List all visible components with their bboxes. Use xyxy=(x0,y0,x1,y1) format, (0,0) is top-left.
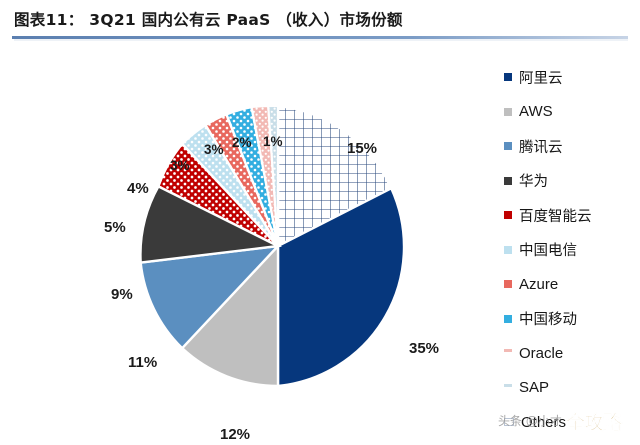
pie-chart-svg xyxy=(78,56,478,436)
legend-item-tencent-cloud[interactable]: 腾讯云 xyxy=(504,129,636,164)
pct-label-baidu: 5% xyxy=(104,219,126,236)
legend-label: Oracle xyxy=(519,345,563,362)
pie-chart xyxy=(78,56,478,436)
legend-label: 阿里云 xyxy=(519,67,563,88)
page-title: 图表11： 3Q21 国内公有云 PaaS （收入）市场份额 xyxy=(14,8,403,30)
legend-item-huawei[interactable]: 华为 xyxy=(504,164,636,199)
watermark-source-text: 头条 @小才 xyxy=(498,412,562,429)
legend-swatch-icon xyxy=(504,177,512,185)
legend-swatch-icon xyxy=(504,211,512,219)
legend-label: 腾讯云 xyxy=(519,136,563,157)
watermark-brand-text: 全攻略 xyxy=(566,408,622,435)
legend-swatch-icon xyxy=(504,246,512,254)
legend-item-china-telecom[interactable]: 中国电信 xyxy=(504,233,636,268)
legend-swatch-icon xyxy=(504,73,512,81)
header-divider-shadow xyxy=(14,39,628,41)
legend-label: 华为 xyxy=(519,170,548,191)
legend-item-azure[interactable]: Azure xyxy=(504,267,636,302)
pct-label-others: 15% xyxy=(347,140,377,157)
pct-label-china-mobile: 3% xyxy=(204,142,224,157)
legend-swatch-icon xyxy=(504,142,512,150)
pct-label-alibaba: 35% xyxy=(409,340,439,357)
legend-label: 百度智能云 xyxy=(519,205,592,226)
legend-swatch-icon xyxy=(504,384,512,387)
legend-label: Azure xyxy=(519,276,558,293)
legend-swatch-icon xyxy=(504,108,512,116)
legend-swatch-icon xyxy=(504,315,512,323)
legend-label: SAP xyxy=(519,379,549,396)
legend-swatch-icon xyxy=(504,280,512,288)
pct-label-oracle: 2% xyxy=(232,135,252,150)
legend-item-china-mobile[interactable]: 中国移动 xyxy=(504,302,636,337)
legend-item-oracle[interactable]: Oracle xyxy=(504,336,636,371)
pie-chart-area: 35% 12% 11% 9% 5% 4% 3% 3% 2% 1% 15% 阿里云… xyxy=(0,46,640,445)
figure-header: 图表11： 3Q21 国内公有云 PaaS （收入）市场份额 xyxy=(0,0,640,46)
pct-label-sap: 1% xyxy=(263,134,283,149)
legend-item-alibaba-cloud[interactable]: 阿里云 xyxy=(504,60,636,95)
pct-label-aws: 12% xyxy=(220,426,250,443)
legend-item-sap[interactable]: SAP xyxy=(504,371,636,406)
pct-label-china-telecom: 4% xyxy=(127,180,149,197)
legend-label: 中国移动 xyxy=(519,308,577,329)
legend-item-aws[interactable]: AWS xyxy=(504,95,636,130)
legend-label: 中国电信 xyxy=(519,239,577,260)
chart-legend: 阿里云 AWS 腾讯云 华为 百度智能云 中国电信 Azure 中国移动 xyxy=(504,60,636,440)
pct-label-azure: 3% xyxy=(170,158,190,173)
legend-label: AWS xyxy=(519,103,553,120)
legend-swatch-icon xyxy=(504,349,512,352)
pct-label-tencent: 11% xyxy=(128,354,157,371)
pct-label-huawei: 9% xyxy=(111,286,133,303)
legend-item-baidu-cloud[interactable]: 百度智能云 xyxy=(504,198,636,233)
